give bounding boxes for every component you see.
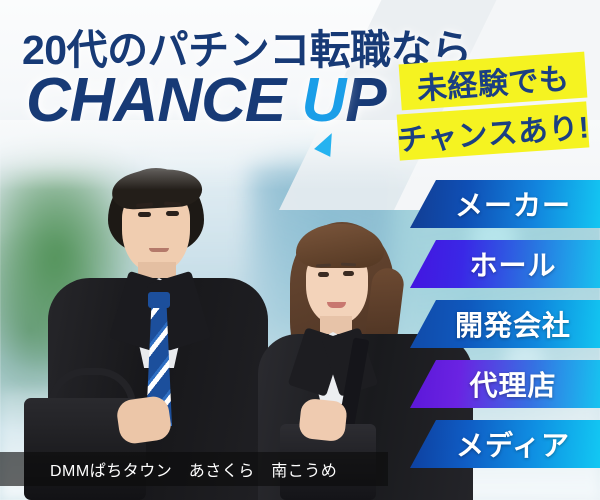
category-button-media[interactable]: メディア: [410, 420, 600, 468]
category-button-hall[interactable]: ホール: [410, 240, 600, 288]
female-eye-left: [318, 272, 329, 277]
credit-text: DMMぱちタウン あさくら 南こうめ: [50, 452, 337, 486]
category-button-agency[interactable]: 代理店: [410, 360, 600, 408]
male-mouth: [149, 248, 169, 252]
advertisement-banner[interactable]: 20代のパチンコ転職なら CHANCE UP 未経験でも チャンスあり! メーカ…: [0, 0, 600, 500]
female-eye-right: [343, 271, 354, 276]
female-mouth: [327, 302, 346, 308]
logo-letter-p: P: [345, 66, 385, 135]
logo-letter-u: U: [301, 66, 345, 135]
category-button-maker[interactable]: メーカー: [410, 180, 600, 228]
male-eye-left: [138, 212, 151, 217]
logo-word-chance: CHANCE: [26, 66, 285, 135]
male-necktie-knot: [148, 292, 170, 308]
brand-logo: CHANCE UP: [26, 70, 386, 132]
male-eye-right: [166, 211, 179, 216]
category-button-developer[interactable]: 開発会社: [410, 300, 600, 348]
female-hand: [298, 398, 348, 443]
female-fringe: [296, 224, 384, 268]
